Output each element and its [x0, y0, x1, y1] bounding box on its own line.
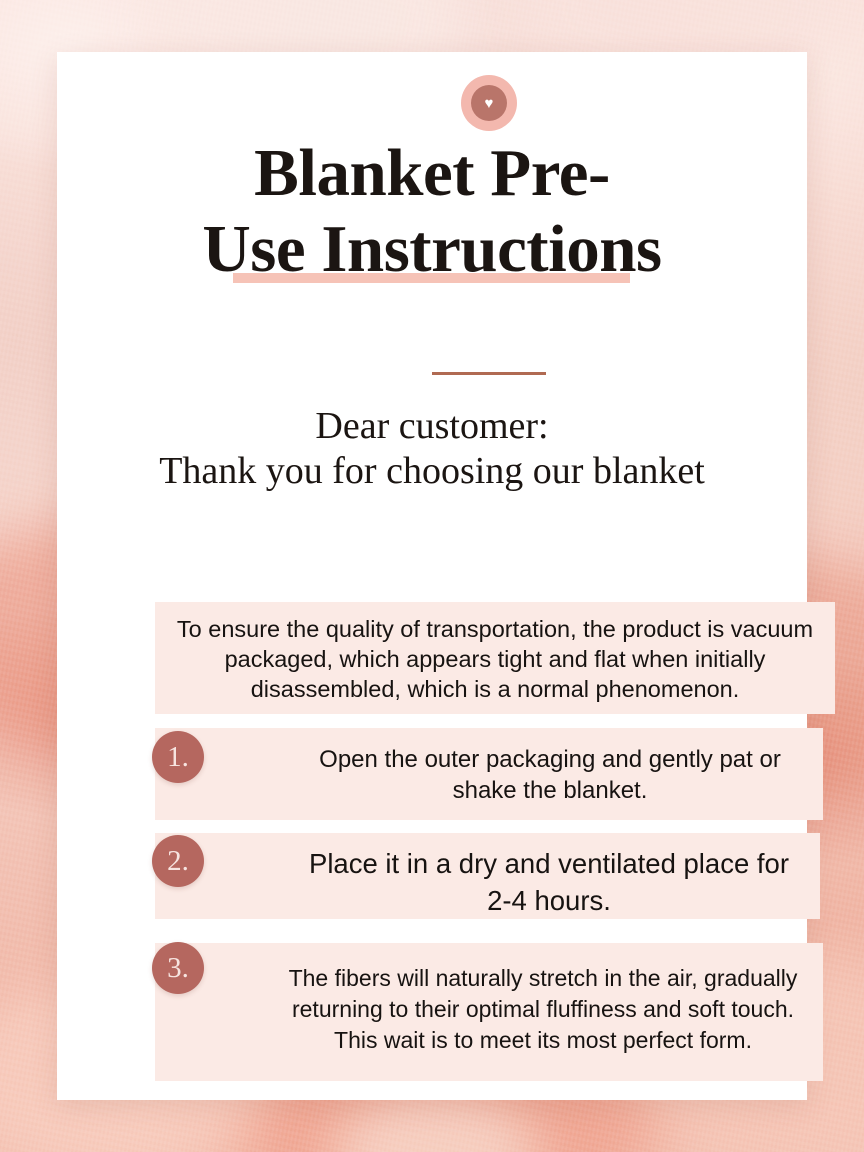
step-number-3: 3.	[152, 942, 204, 994]
step-band-2: Place it in a dry and ventilated place f…	[155, 833, 820, 919]
step-band-1: Open the outer packaging and gently pat …	[155, 728, 823, 820]
step-band-3: The fibers will naturally stretch in the…	[155, 943, 823, 1081]
intro-band: To ensure the quality of transportation,…	[155, 602, 835, 714]
page-title: Blanket Pre- Use Instructions	[57, 135, 807, 287]
step-number-1: 1.	[152, 731, 204, 783]
intro-text: To ensure the quality of transportation,…	[155, 602, 835, 704]
greeting-line-2: Thank you for choosing our blanket	[57, 449, 807, 494]
heart-badge: ♥	[461, 75, 517, 131]
step-text-1: Open the outer packaging and gently pat …	[305, 744, 795, 806]
step-number-2: 2.	[152, 835, 204, 887]
step-text-3: The fibers will naturally stretch in the…	[283, 963, 803, 1056]
title-line-1: Blanket Pre-	[254, 135, 610, 211]
section-divider	[432, 372, 546, 375]
heart-icon: ♥	[485, 96, 494, 111]
title-underline	[233, 273, 630, 283]
greeting-line-1: Dear customer:	[57, 404, 807, 449]
step-text-2: Place it in a dry and ventilated place f…	[303, 845, 795, 919]
greeting-block: Dear customer: Thank you for choosing ou…	[57, 404, 807, 494]
heart-badge-inner: ♥	[471, 85, 507, 121]
instruction-card: ♥ Blanket Pre- Use Instructions Dear cus…	[57, 52, 807, 1100]
